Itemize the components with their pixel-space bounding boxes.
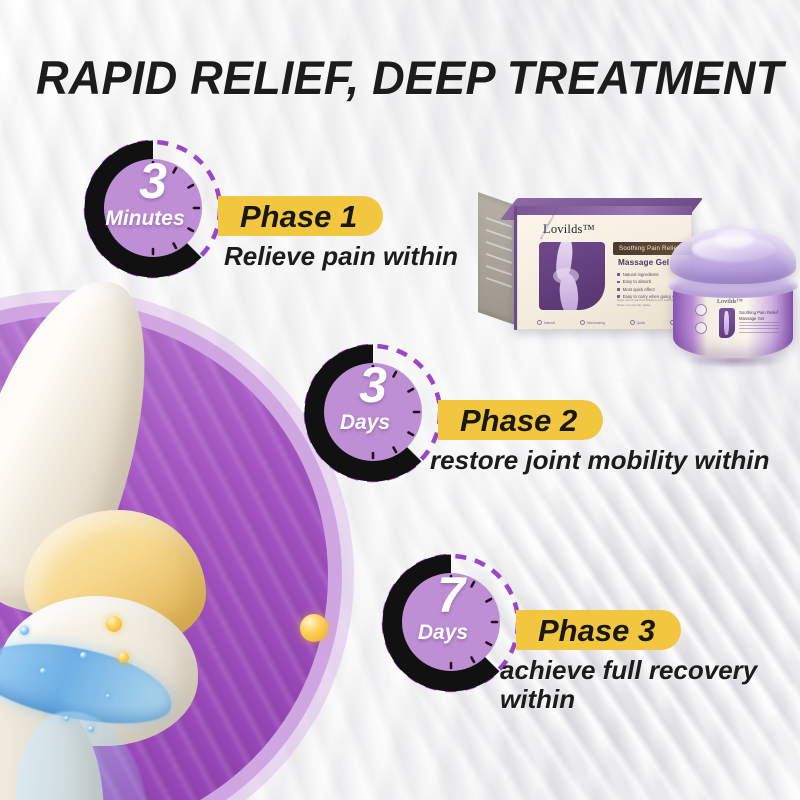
feature-icon-label: Natural bbox=[544, 321, 555, 325]
phase-2-caption: restore joint mobility within bbox=[430, 446, 769, 475]
leaf-icon: Natural bbox=[537, 320, 555, 325]
product-box-front-face: Lovilds™ MILD FORMULA AND MOISTURIZING S… bbox=[514, 206, 692, 330]
phase-1-timer-badge: 3 Minutes bbox=[78, 134, 228, 284]
gel-particle bbox=[88, 726, 94, 732]
infographic-canvas: RAPID RELIEF, DEEP TREATMENT 3 Minutes bbox=[0, 0, 800, 800]
product-jar: Lovilds™ Soothing Pain Relief Massage Ge… bbox=[668, 228, 800, 360]
phase-2-timer-badge: 3 Days bbox=[298, 338, 448, 488]
phase-2-label: Phase 2 bbox=[460, 405, 577, 436]
jar-brand-name: Lovilds™ bbox=[717, 298, 743, 305]
phase-3-banner: Phase 3 bbox=[516, 610, 681, 650]
jar-lid bbox=[670, 228, 796, 284]
product-bullet-text: Most quick effect bbox=[623, 287, 655, 292]
page-title: RAPID RELIEF, DEEP TREATMENT bbox=[36, 50, 746, 105]
jar-label-lines bbox=[739, 322, 779, 335]
product-feature-icon-row: Natural Moisturizing Quick Safe bbox=[537, 320, 684, 325]
gel-particle bbox=[40, 668, 46, 674]
droplet-icon: Moisturizing bbox=[580, 320, 605, 325]
phase-3-caption: achieve full recovery within bbox=[500, 656, 800, 714]
phase-3-label: Phase 3 bbox=[538, 615, 655, 646]
product-bullet-text: Easy to absorb bbox=[623, 279, 652, 284]
product-knee-graphic bbox=[539, 242, 605, 310]
jar-seal-badges bbox=[695, 304, 707, 340]
gel-particle bbox=[64, 716, 69, 721]
phase-1-banner: Phase 1 bbox=[218, 196, 383, 236]
phase-2-banner: Phase 2 bbox=[438, 400, 603, 440]
feature-icon-label: Moisturizing bbox=[587, 321, 605, 325]
accent-sphere bbox=[118, 652, 129, 663]
clock-icon: Quick bbox=[630, 320, 646, 325]
feature-icon-label: Quick bbox=[637, 321, 646, 325]
accent-sphere bbox=[106, 616, 122, 632]
gel-particle bbox=[106, 694, 110, 698]
phase-1-label: Phase 1 bbox=[240, 201, 357, 232]
product-bullet-text: Natural ingredients bbox=[623, 272, 659, 277]
knee-joint-illustration bbox=[0, 296, 348, 800]
gel-particle bbox=[80, 652, 87, 659]
jar-product-name: Soothing Pain Relief Massage Gel bbox=[739, 310, 779, 322]
phase-1-caption: Relieve pain within bbox=[224, 242, 458, 271]
jar-knee-graphic bbox=[719, 308, 735, 338]
accent-sphere bbox=[300, 614, 328, 642]
product-name-text: Massage Gel bbox=[618, 258, 669, 267]
product-box-accent-strip bbox=[517, 206, 692, 215]
gel-particle bbox=[20, 626, 29, 635]
